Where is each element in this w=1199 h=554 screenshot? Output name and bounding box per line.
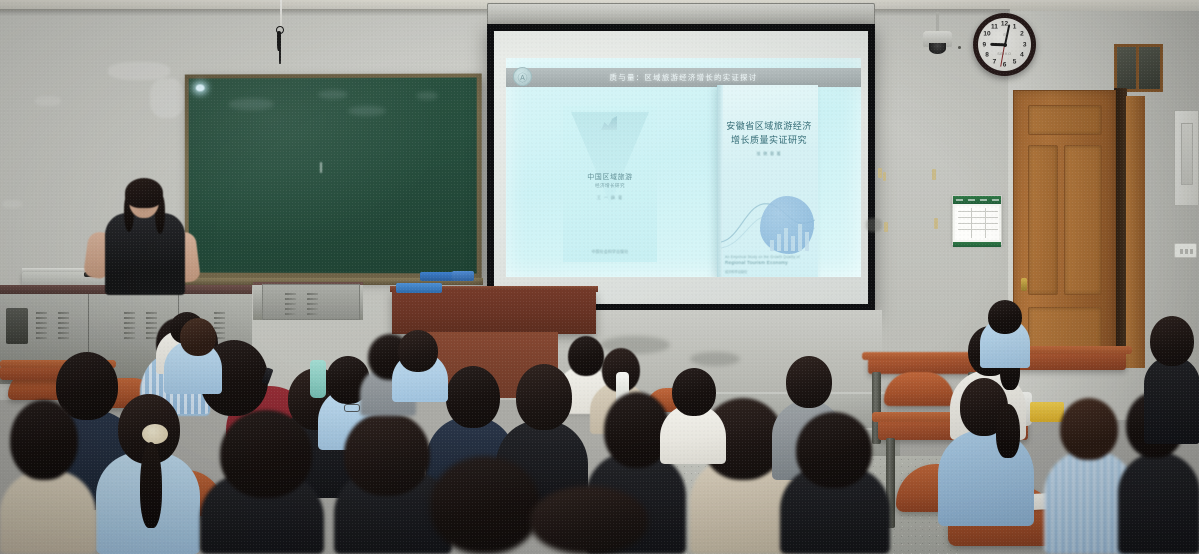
clock-numeral: 3 <box>1023 41 1027 48</box>
presenter-torso <box>105 213 185 295</box>
wall-scuff <box>150 78 184 118</box>
book-left-publisher: 中国社会科学出版社 <box>563 250 657 255</box>
microphone-cable <box>280 0 282 28</box>
student-head <box>988 300 1022 334</box>
wall-mark <box>866 218 882 232</box>
notice-footer <box>953 242 1001 247</box>
snack-bag <box>1030 402 1064 422</box>
student-head <box>796 412 872 488</box>
student-head <box>516 364 572 430</box>
chalk-eraser-icon <box>420 272 456 281</box>
student-head <box>446 366 500 428</box>
student-head <box>398 330 438 372</box>
wall-scuff <box>35 96 61 106</box>
book-right-title-line1: 安徽省区域旅游经济 <box>725 119 813 132</box>
side-console-front <box>262 284 360 320</box>
student-head <box>672 368 716 416</box>
slide-logo-icon: Ⓐ <box>513 67 532 86</box>
book-right-english-line2: Regional Tourism Economy <box>725 260 811 265</box>
clock-numeral: 2 <box>1020 31 1024 38</box>
notice-header <box>953 196 1001 204</box>
student-head <box>180 318 216 356</box>
clock-numeral: 4 <box>1020 51 1024 58</box>
student-head <box>220 410 312 498</box>
projection-screen: 质与量：区域旅游经济增长的实证探讨 Ⓐ 中国区域旅游 经济增长研究 王 一 峰 … <box>487 24 875 313</box>
book-cover-right: 安徽省区域旅游经济 增长质量实证研究 张 晓 蓉 著 An E <box>717 85 818 277</box>
door-panel <box>1064 145 1102 295</box>
presenter-hair-top <box>125 178 163 208</box>
hair-scrunchie <box>142 424 168 444</box>
book-cover-left: 中国区域旅游 经济增长研究 王 一 峰 著 中国社会科学出版社 <box>563 106 657 262</box>
wall-tape <box>934 218 938 229</box>
electrical-panel <box>1174 110 1199 206</box>
camera-lens-icon <box>929 43 946 54</box>
clock-numeral: 11 <box>991 24 998 31</box>
clock-numeral: 10 <box>983 31 990 38</box>
student-ponytail <box>140 442 162 528</box>
student-head <box>344 412 430 496</box>
clock-center-pin <box>1003 43 1007 47</box>
door-lock-icon[interactable] <box>1021 278 1027 291</box>
clock-numeral: 8 <box>985 51 989 58</box>
clock-numeral: 1 <box>1013 24 1017 31</box>
wall-tape <box>878 168 882 178</box>
slide-logo-mark: Ⓐ <box>518 69 528 84</box>
wall-clock: ⊙ 12 1 2 3 4 5 6 7 8 9 10 11 SEIKO <box>973 13 1036 76</box>
presentation-slide: 质与量：区域旅游经济增长的实证探讨 Ⓐ 中国区域旅游 经济增长研究 王 一 峰 … <box>506 58 861 277</box>
student-head <box>786 356 832 408</box>
student-head <box>1060 398 1118 460</box>
chalkboard-surface <box>189 78 477 274</box>
door-jamb <box>1126 96 1145 368</box>
book-right-bar-graphic <box>770 224 809 251</box>
classroom-door[interactable] <box>1013 90 1116 365</box>
wall-screw <box>958 46 961 49</box>
student-body <box>0 470 96 554</box>
clock-brand: SEIKO <box>997 52 1011 56</box>
notice-table <box>955 206 999 240</box>
door-panel <box>1028 145 1058 295</box>
green-chalkboard <box>185 73 482 280</box>
console-opening <box>6 308 28 344</box>
student-head <box>430 456 540 554</box>
student-head <box>10 400 78 480</box>
clock-face: ⊙ 12 1 2 3 4 5 6 7 8 9 10 11 SEIKO <box>978 18 1031 71</box>
clock-numeral: 9 <box>983 41 987 48</box>
water-bottle <box>310 360 326 398</box>
student-ponytail <box>996 404 1020 458</box>
blue-box-on-ledge <box>396 283 442 293</box>
chalk-eraser-icon <box>452 271 474 281</box>
wall-tape <box>884 222 888 232</box>
book-right-author: 张 晓 蓉 著 <box>725 151 813 157</box>
book-right-publisher: 经济科学出版社 <box>725 269 811 274</box>
book-left-author: 王 一 峰 著 <box>563 195 657 201</box>
wall-tape <box>883 172 886 181</box>
board-power-led-icon <box>196 84 205 91</box>
screen-surface: 质与量：区域旅游经济增长的实证探讨 Ⓐ 中国区域旅游 经济增长研究 王 一 峰 … <box>494 31 868 304</box>
transom-window <box>1114 44 1163 92</box>
wooden-lectern <box>392 290 596 334</box>
schedule-notice-board <box>952 195 1002 245</box>
wall-outlet-icon <box>1174 243 1197 258</box>
clock-numeral: 7 <box>993 58 997 65</box>
eyeglasses-icon <box>344 404 360 412</box>
student-head <box>1150 316 1194 366</box>
hanging-microphone-icon <box>273 26 285 52</box>
book-right-english-line1: An Empirical Study on the Growth Quality… <box>725 255 811 259</box>
classroom-photo: 质与量：区域旅游经济增长的实证探讨 Ⓐ 中国区域旅游 经济增长研究 王 一 峰 … <box>0 0 1199 554</box>
book-right-title-line2: 增长质量实证研究 <box>725 133 813 146</box>
door-panel <box>1028 105 1102 135</box>
clock-numeral: 5 <box>1013 58 1017 65</box>
wall-scuff <box>2 200 22 208</box>
wall-tape <box>932 169 936 180</box>
student-head <box>530 486 648 554</box>
student-body <box>1118 452 1199 554</box>
student-body <box>1144 356 1199 444</box>
clock-numeral: 6 <box>1003 61 1007 68</box>
book-left-title: 中国区域旅游 <box>563 172 657 182</box>
student-body <box>938 430 1034 526</box>
book-left-subtitle: 经济增长研究 <box>563 183 657 189</box>
chalk-mark <box>320 162 322 173</box>
student-head <box>568 336 604 376</box>
slide-title: 质与量：区域旅游经济增长的实证探讨 <box>610 72 758 83</box>
